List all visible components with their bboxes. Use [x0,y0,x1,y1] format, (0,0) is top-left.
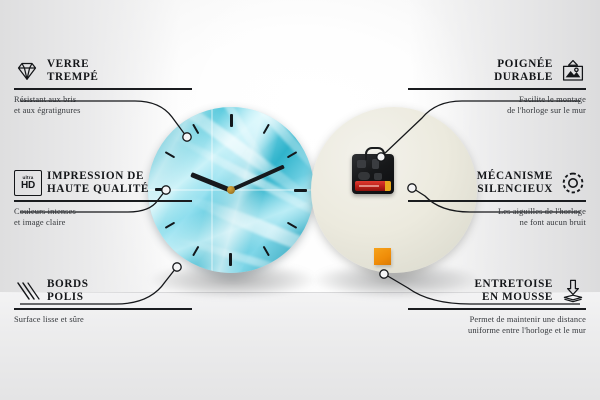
feature-header: POIGNÉE DURABLE [408,58,586,84]
feature-divider [408,308,586,309]
infographic-canvas: VERRE TREMPÉ Résistant aux bris et aux é… [0,0,600,400]
feature-description: Les aiguilles de l'horloge ne font aucun… [408,206,586,228]
ultra-hd-badge: ultra HD [14,170,42,196]
ultra-hd-label-main: HD [21,181,35,191]
diamond-icon [14,58,40,84]
feature-mecanisme-silencieux: MÉCANISME SILENCIEUX Les aiguilles de l'… [408,170,586,228]
feature-description: Résistant aux bris et aux égratignures [14,94,192,116]
feature-description: Facilite le montage de l'horloge sur le … [408,94,586,116]
feature-description: Permet de maintenir une distance uniform… [408,314,586,336]
feature-title-line2: HAUTE QUALITÉ [47,183,149,196]
feature-title-line2: DURABLE [494,71,553,84]
feature-divider [408,200,586,201]
feature-title: MÉCANISME SILENCIEUX [477,170,553,196]
feature-title-line1: ENTRETOISE [474,278,553,291]
feature-title-line1: BORDS [47,278,89,291]
ultra-hd-icon: ultra HD [14,170,40,196]
feature-title: VERRE TREMPÉ [47,58,98,84]
feature-title-line2: SILENCIEUX [477,183,553,196]
feature-header: MÉCANISME SILENCIEUX [408,170,586,196]
connector-marker-entretoise [380,270,388,278]
feature-title-line1: IMPRESSION DE [47,170,149,183]
feature-divider [14,200,192,201]
feature-title-line1: MÉCANISME [477,170,553,183]
feature-header: BORDS POLIS [14,278,192,304]
feature-bords-polis: BORDS POLIS Surface lisse et sûre [14,278,192,325]
feature-impression-haute-qualite: ultra HD IMPRESSION DE HAUTE QUALITÉ Cou… [14,170,192,228]
feature-title-line2: POLIS [47,291,89,304]
feature-title: POIGNÉE DURABLE [494,58,553,84]
feature-poignee-durable: POIGNÉE DURABLE Facilite le montage de l… [408,58,586,116]
feature-divider [14,88,192,89]
feature-title-line2: TREMPÉ [47,71,98,84]
feature-title-line1: POIGNÉE [494,58,553,71]
polished-edges-icon [14,278,40,304]
foam-spacer-icon [560,278,586,304]
gear-icon [560,170,586,196]
connector-marker-verre-trempe [183,133,191,141]
connector-marker-poignee [377,153,385,161]
feature-description: Couleurs intenses et image claire [14,206,192,228]
feature-title: IMPRESSION DE HAUTE QUALITÉ [47,170,149,196]
connector-marker-bords-polis [173,263,181,271]
feature-entretoise-en-mousse: ENTRETOISE EN MOUSSE Permet de maintenir… [408,278,586,336]
feature-title-line1: VERRE [47,58,98,71]
feature-header: ENTRETOISE EN MOUSSE [408,278,586,304]
feature-title-line2: EN MOUSSE [474,291,553,304]
feature-header: ultra HD IMPRESSION DE HAUTE QUALITÉ [14,170,192,196]
feature-divider [408,88,586,89]
feature-description: Surface lisse et sûre [14,314,192,325]
picture-hanger-icon [560,58,586,84]
feature-verre-trempe: VERRE TREMPÉ Résistant aux bris et aux é… [14,58,192,116]
feature-title: BORDS POLIS [47,278,89,304]
feature-header: VERRE TREMPÉ [14,58,192,84]
feature-divider [14,308,192,309]
feature-title: ENTRETOISE EN MOUSSE [474,278,553,304]
